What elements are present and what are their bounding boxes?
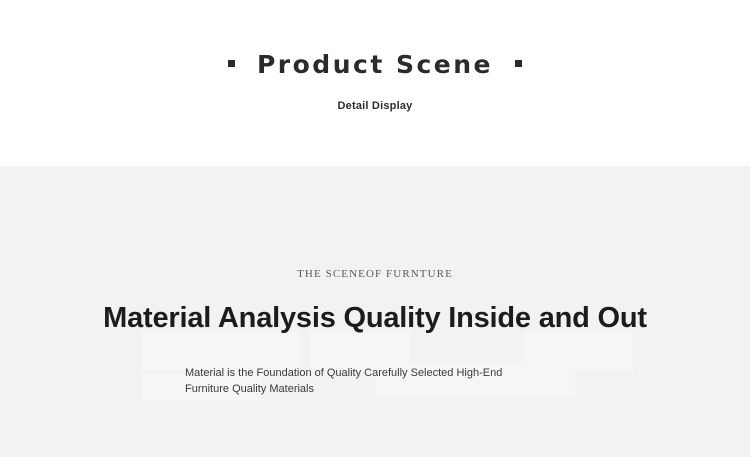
- square-marker-left-icon: [228, 60, 235, 67]
- section-headline: Material Analysis Quality Inside and Out: [0, 302, 750, 335]
- page-title: Product Scene: [257, 50, 493, 79]
- poster-page: Product Scene Detail Display THE SCENEOF…: [0, 0, 750, 457]
- content-panel: THE SCENEOF FURNTURE Material Analysis Q…: [0, 166, 750, 457]
- header-band: Product Scene Detail Display: [0, 0, 750, 166]
- square-marker-right-icon: [515, 60, 522, 67]
- section-eyebrow: THE SCENEOF FURNTURE: [0, 268, 750, 280]
- page-subtitle: Detail Display: [0, 100, 750, 112]
- section-body-text: Material is the Foundation of Quality Ca…: [185, 366, 545, 398]
- image-placeholder-block: [142, 331, 300, 371]
- title-row: Product Scene: [0, 50, 750, 79]
